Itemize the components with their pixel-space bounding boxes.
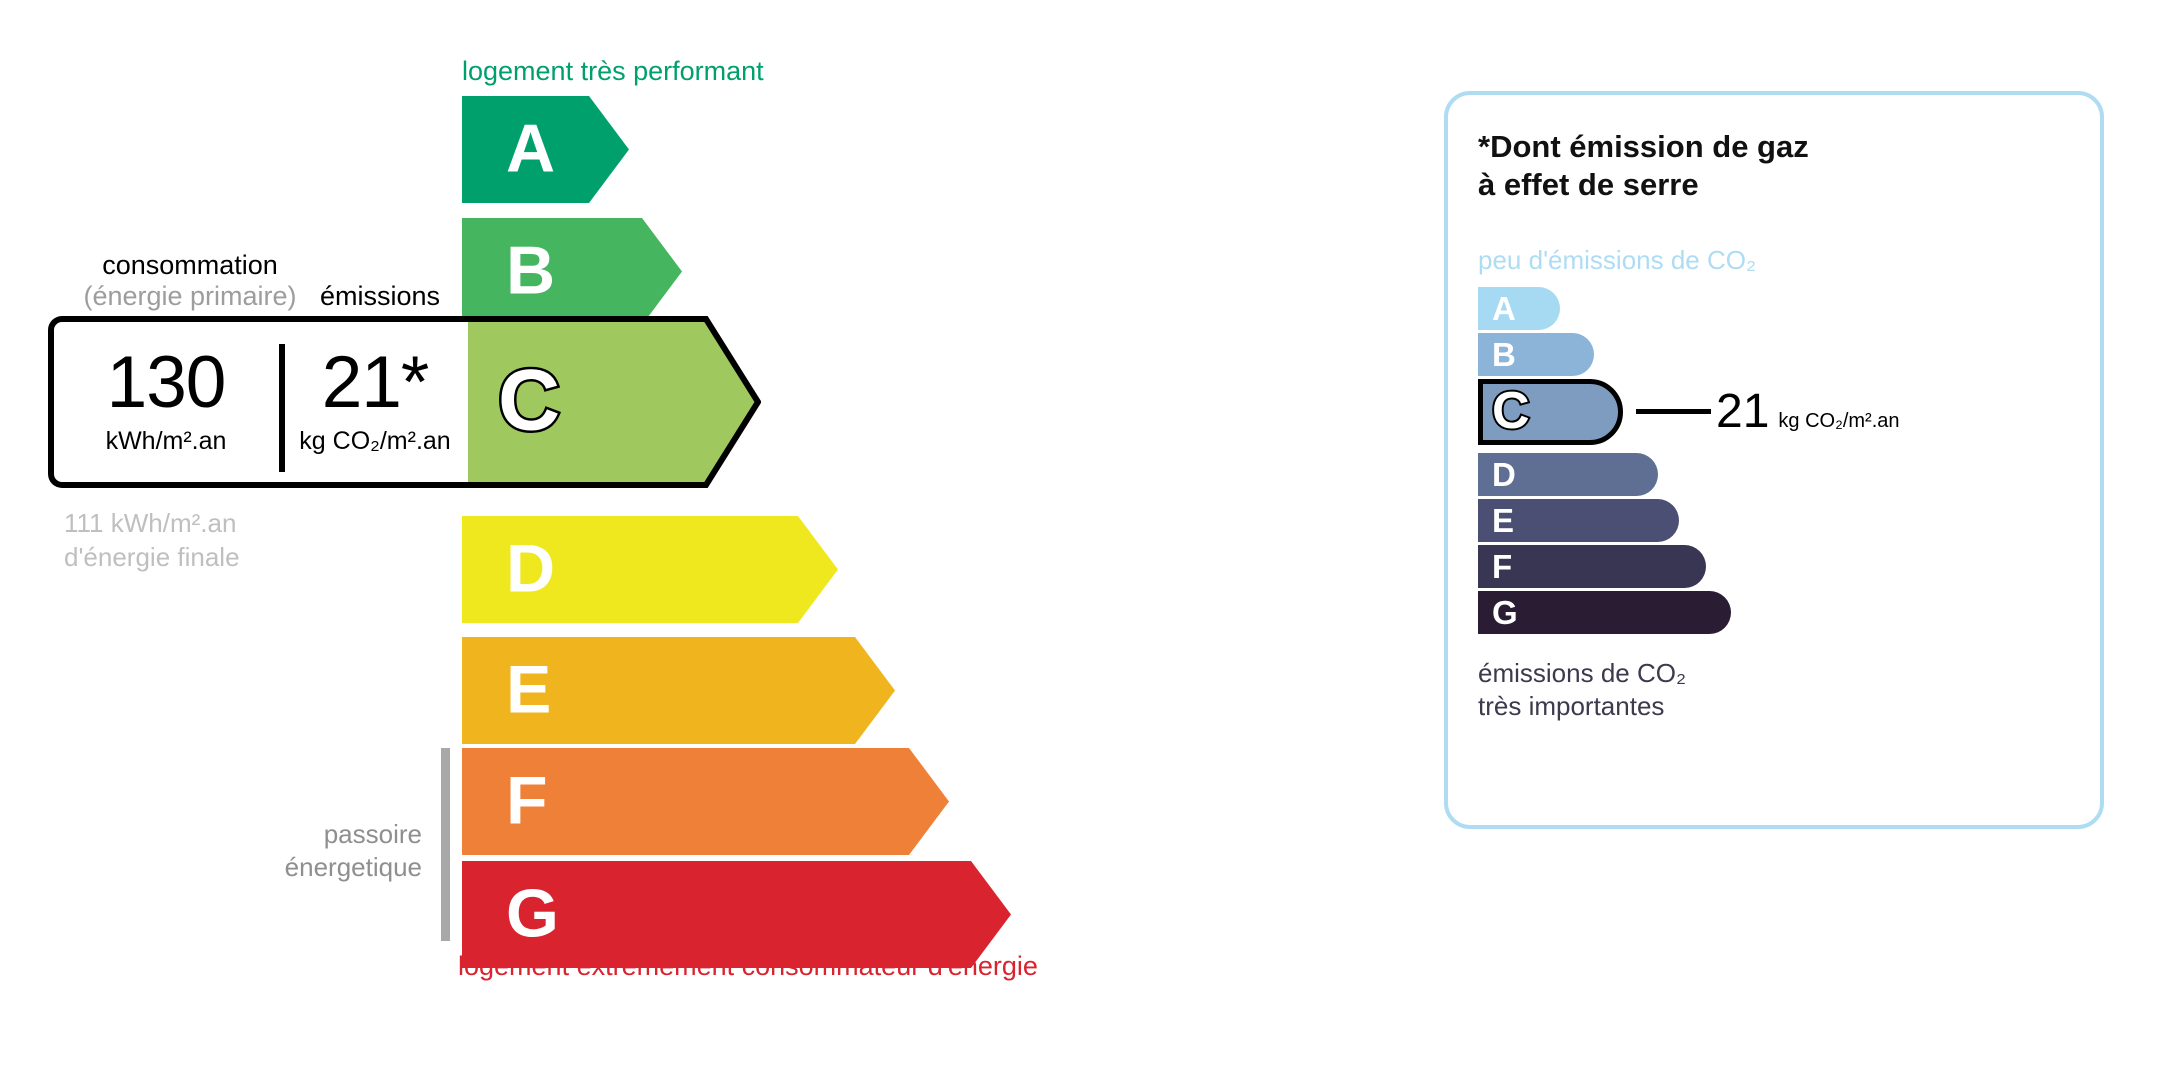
- energy-class-row-d[interactable]: D: [462, 516, 838, 623]
- consumption-header-main: consommation: [70, 250, 310, 281]
- co2-bar-f: [1478, 545, 1706, 588]
- co2-low-emissions-label: peu d'émissions de CO₂: [1478, 245, 1756, 276]
- co2-high-emissions-label: émissions de CO₂ très importantes: [1478, 657, 1686, 722]
- co2-title-line-2: à effet de serre: [1478, 166, 1809, 204]
- energy-arrow-b: [462, 218, 682, 325]
- consumption-header: consommation (énergie primaire): [70, 250, 310, 312]
- co2-class-row-f[interactable]: F: [1478, 545, 1706, 588]
- energy-class-letter-a: A: [506, 114, 555, 182]
- energy-performance-scale: logement très performant A B: [0, 0, 1300, 1079]
- co2-panel-title: *Dont émission de gaz à effet de serre: [1478, 128, 1809, 204]
- co2-class-row-a[interactable]: A: [1478, 287, 1560, 330]
- current-values-box: 130 kWh/m².an 21* kg CO₂/m².an: [48, 316, 468, 488]
- passoire-line-1: passoire: [230, 818, 422, 851]
- energy-class-row-e[interactable]: E: [462, 637, 895, 744]
- dpe-label-figure: logement très performant A B: [0, 0, 2169, 1079]
- energy-class-letter-f: F: [506, 766, 548, 834]
- co2-bar-a: [1478, 287, 1560, 330]
- emission-unit: kg CO₂/m².an: [299, 427, 450, 456]
- energy-unit: kWh/m².an: [106, 427, 227, 456]
- energy-class-row-a[interactable]: A: [462, 96, 629, 203]
- greenhouse-gas-panel: *Dont émission de gaz à effet de serre p…: [1444, 91, 2104, 829]
- scale-bottom-caption: logement extrêmement consommateur d'éner…: [458, 951, 1038, 982]
- co2-current-value: 21 kg CO₂/m².an: [1716, 388, 1900, 436]
- consumption-header-sub: (énergie primaire): [70, 281, 310, 312]
- co2-bottom-line-2: très importantes: [1478, 690, 1686, 723]
- passoire-energetique-bracket: [441, 748, 450, 941]
- co2-class-row-b[interactable]: B: [1478, 333, 1594, 376]
- co2-class-letter-e: E: [1492, 503, 1514, 536]
- energy-class-letter-d: D: [506, 534, 555, 602]
- co2-bottom-line-1: émissions de CO₂: [1478, 657, 1686, 690]
- energy-value: 130: [107, 348, 226, 417]
- co2-class-row-e[interactable]: E: [1478, 499, 1679, 542]
- emission-value: 21*: [322, 348, 429, 417]
- co2-class-letter-f: F: [1492, 549, 1512, 582]
- co2-class-letter-g: G: [1492, 595, 1518, 628]
- co2-class-letter-a: A: [1492, 291, 1516, 324]
- passoire-line-2: énergetique: [230, 851, 422, 884]
- co2-class-row-g[interactable]: G: [1478, 591, 1731, 634]
- final-energy-line-2: d'énergie finale: [64, 541, 240, 575]
- energy-class-row-f[interactable]: F: [462, 748, 949, 855]
- co2-class-letter-d: D: [1492, 457, 1516, 490]
- co2-class-row-c-current[interactable]: C: [1478, 379, 1623, 445]
- passoire-energetique-label: passoire énergetique: [230, 818, 422, 883]
- co2-title-line-1: *Dont émission de gaz: [1478, 128, 1809, 166]
- co2-class-letter-b: B: [1492, 337, 1516, 370]
- energy-class-letter-b: B: [506, 236, 555, 304]
- co2-class-row-d[interactable]: D: [1478, 453, 1658, 496]
- co2-value-connector: [1636, 409, 1711, 414]
- energy-class-row-c-current[interactable]: C: [462, 316, 761, 488]
- final-energy-note: 111 kWh/m².an d'énergie finale: [64, 507, 240, 575]
- energy-class-letter-e: E: [506, 655, 551, 723]
- scale-top-caption: logement très performant: [462, 56, 764, 87]
- co2-class-letter-c: C: [1492, 385, 1530, 437]
- final-energy-line-1: 111 kWh/m².an: [64, 507, 240, 541]
- energy-class-row-b[interactable]: B: [462, 218, 682, 325]
- co2-value-unit: kg CO₂/m².an: [1778, 410, 1899, 433]
- emission-value-cell: 21* kg CO₂/m².an: [285, 322, 465, 482]
- energy-class-letter-g: G: [506, 879, 559, 947]
- energy-value-cell: 130 kWh/m².an: [54, 322, 278, 482]
- emissions-header: émissions: [300, 281, 460, 312]
- energy-class-letter-c: C: [498, 357, 560, 443]
- co2-value-number: 21: [1716, 388, 1769, 436]
